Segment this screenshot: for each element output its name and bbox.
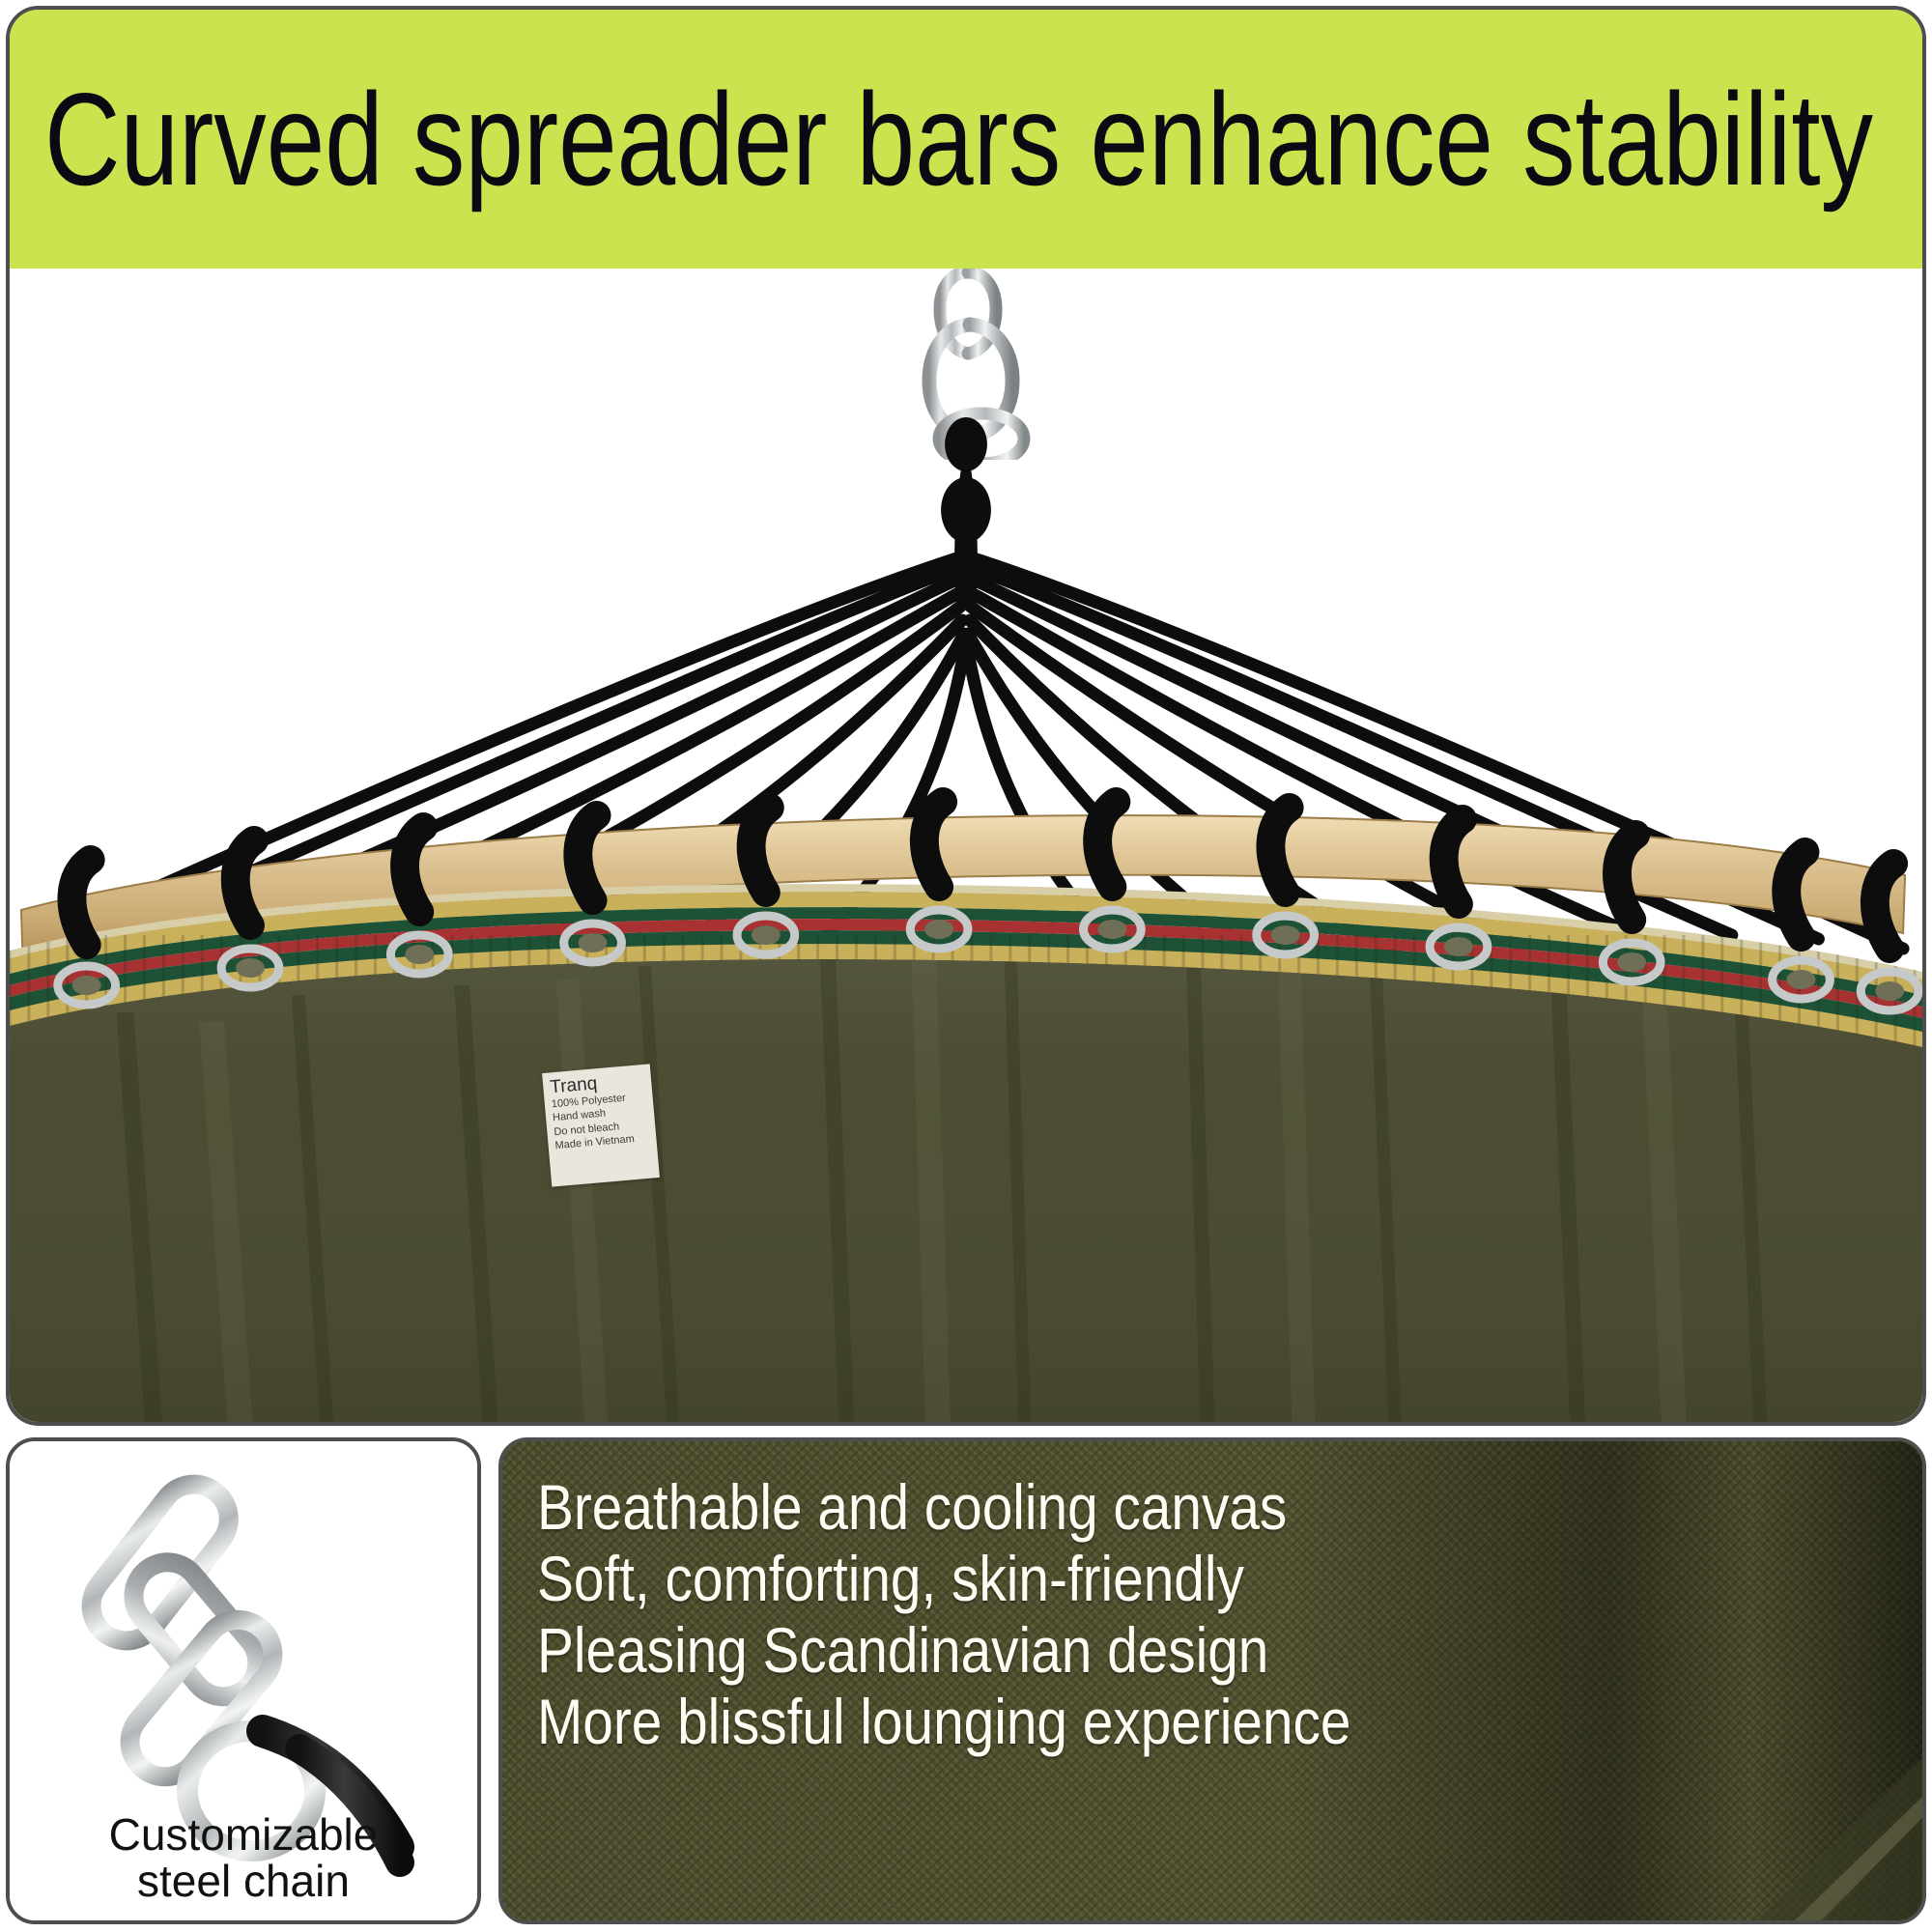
- chain-caption-line1: Customizable: [10, 1812, 477, 1859]
- care-label: Tranq 100% Polyester Hand wash Do not bl…: [542, 1064, 660, 1186]
- product-feature-graphic: Curved spreader bars enhance stability: [0, 0, 1932, 1932]
- hero-card: Curved spreader bars enhance stability: [6, 6, 1926, 1426]
- chain-caption-line2: steel chain: [10, 1859, 477, 1905]
- feature-item: Pleasing Scandinavian design: [537, 1615, 1661, 1687]
- features-card: Breathable and cooling canvas Soft, comf…: [498, 1437, 1926, 1924]
- chain-caption: Customizable steel chain: [10, 1812, 477, 1905]
- woven-band-and-canvas: [10, 269, 1922, 1426]
- feature-list: Breathable and cooling canvas Soft, comf…: [537, 1472, 1843, 1758]
- headline-text: Curved spreader bars enhance stability: [44, 73, 1873, 205]
- hammock-photo: Tranq 100% Polyester Hand wash Do not bl…: [10, 269, 1922, 1426]
- chain-inset-card: Customizable steel chain: [6, 1437, 481, 1924]
- feature-item: Soft, comforting, skin-friendly: [537, 1544, 1661, 1615]
- headline-banner: Curved spreader bars enhance stability: [10, 10, 1922, 269]
- feature-item: Breathable and cooling canvas: [537, 1472, 1661, 1544]
- feature-item: More blissful lounging experience: [537, 1687, 1661, 1758]
